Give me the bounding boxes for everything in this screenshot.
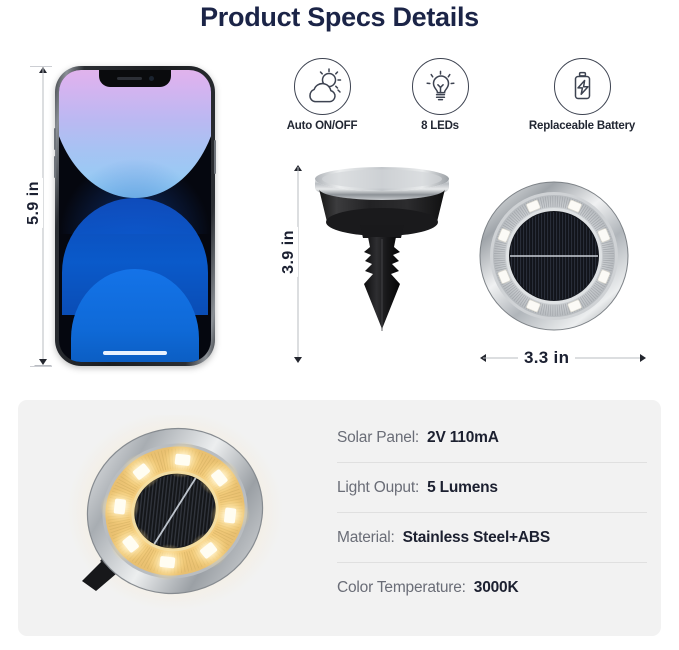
- lightbulb-icon: [412, 58, 469, 115]
- front-camera-icon: [149, 76, 154, 81]
- phone-notch: [99, 70, 171, 87]
- phone-height-dimension: 5.9 in: [28, 66, 58, 366]
- light-width-dimension: 3.3 in: [480, 345, 646, 371]
- phone-reference-image: [55, 66, 215, 366]
- dimension-arrow-right: [640, 354, 646, 362]
- phone-screen: [59, 70, 211, 362]
- feature-label: 8 LEDs: [390, 120, 490, 132]
- spec-label: Light Ouput:: [337, 479, 419, 497]
- feature-replaceable-battery: Replaceable Battery: [502, 58, 662, 132]
- light-height-label: 3.9 in: [280, 227, 298, 277]
- power-button: [214, 140, 216, 174]
- light-width-label: 3.3 in: [518, 348, 575, 368]
- home-indicator: [103, 351, 167, 355]
- table-row: Light Ouput: 5 Lumens: [337, 463, 647, 513]
- light-top-view: [478, 180, 630, 332]
- earpiece-grille: [117, 77, 142, 80]
- cloud-sun-icon: [294, 58, 351, 115]
- feature-auto-on-off: Auto ON/OFF: [272, 58, 372, 132]
- smartphone-mockup: [55, 66, 215, 366]
- phone-extension-line-top: [30, 66, 52, 67]
- table-row: Color Temperature: 3000K: [337, 563, 647, 612]
- battery-bolt-icon: [554, 58, 611, 115]
- spec-label: Material:: [337, 529, 395, 547]
- feature-8-leds: 8 LEDs: [390, 58, 490, 132]
- product-specs-infographic: Product Specs Details Aut: [0, 0, 679, 650]
- feature-icon-row: Auto ON/OFF: [272, 58, 662, 138]
- page-title: Product Specs Details: [0, 2, 679, 33]
- spec-value: 5 Lumens: [427, 479, 498, 497]
- spec-value: Stainless Steel+ABS: [403, 529, 550, 547]
- light-height-dimension: 3.9 in: [283, 165, 313, 363]
- phone-height-label: 5.9 in: [25, 178, 43, 228]
- table-row: Solar Panel: 2V 110mA: [337, 413, 647, 463]
- dimension-arrow-down: [294, 357, 302, 363]
- light-side-view: [300, 163, 465, 363]
- feature-label: Auto ON/OFF: [272, 120, 372, 132]
- table-row: Material: Stainless Steel+ABS: [337, 513, 647, 563]
- spec-table: Solar Panel: 2V 110mA Light Ouput: 5 Lum…: [337, 413, 647, 612]
- spec-label: Color Temperature:: [337, 579, 466, 597]
- light-illuminated-photo: [62, 415, 284, 615]
- spec-label: Solar Panel:: [337, 429, 419, 447]
- spec-value: 3000K: [474, 579, 519, 597]
- spec-value: 2V 110mA: [427, 429, 499, 447]
- phone-extension-line-bottom: [30, 366, 52, 367]
- feature-label: Replaceable Battery: [502, 120, 662, 132]
